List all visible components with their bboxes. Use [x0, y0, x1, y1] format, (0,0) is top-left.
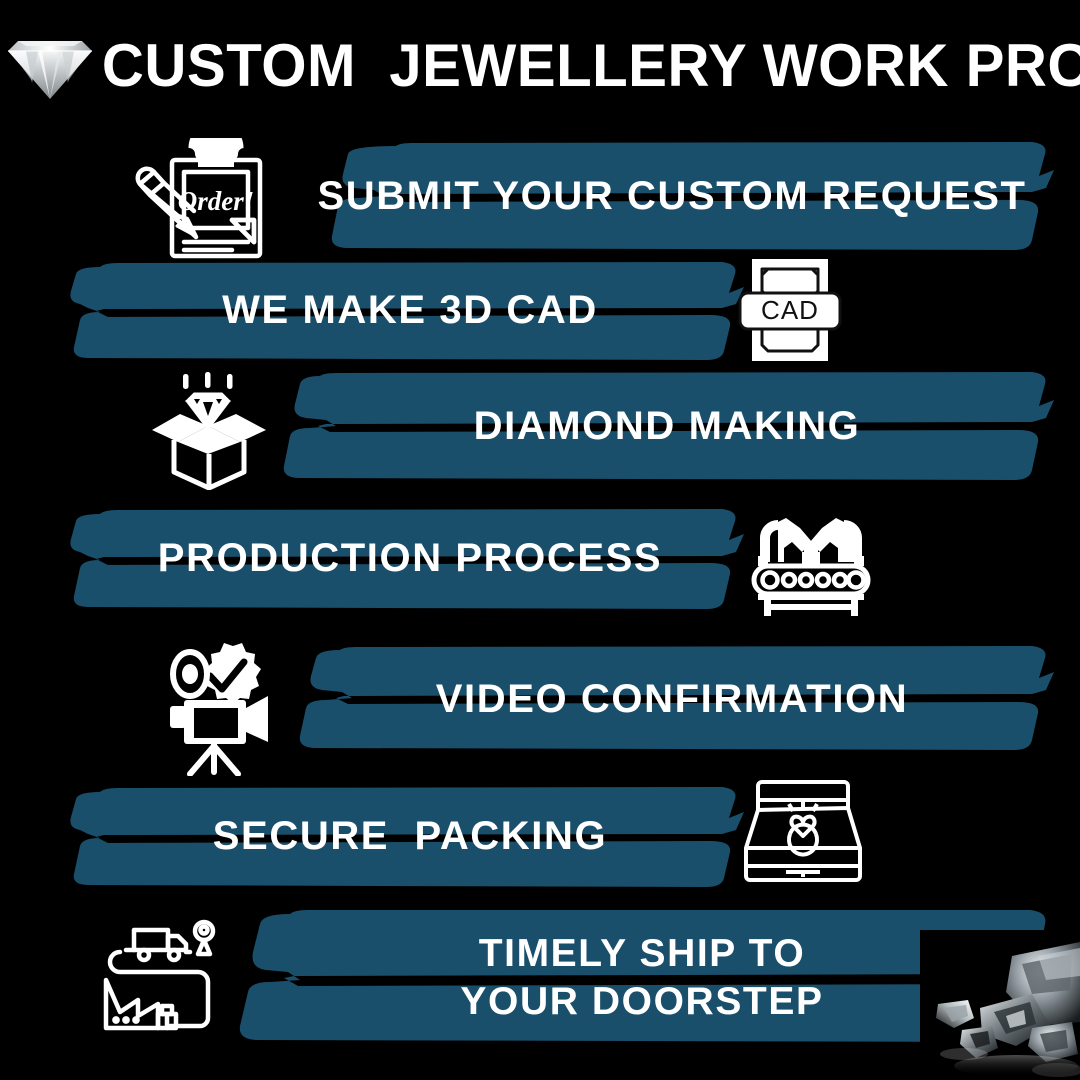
process-step-row: Order! SUBMIT YOUR CUSTOM REQUEST	[0, 138, 1080, 254]
video-camera-check-icon	[160, 634, 288, 776]
process-step-row: DIAMOND MAKING	[0, 368, 1080, 490]
step-banner[interactable]: WE MAKE 3D CAD	[70, 259, 750, 361]
process-step-row: TIMELY SHIP TO YOUR DOORSTEP	[0, 908, 1080, 1048]
conveyor-robot-arms-icon	[748, 504, 874, 616]
factory-truck-route-icon	[98, 912, 230, 1040]
cad-printer-icon: CAD	[730, 255, 850, 365]
poster-header: CUSTOM JEWELLERY WORK PROCESS	[0, 18, 1080, 114]
page-title: CUSTOM JEWELLERY WORK PROCESS	[98, 36, 1080, 96]
step-banner[interactable]: TIMELY SHIP TO YOUR DOORSTEP	[228, 908, 1056, 1048]
clipboard-order-icon: Order!	[128, 138, 282, 260]
infographic-poster: CUSTOM JEWELLERY WORK PROCESS	[0, 0, 1080, 1080]
step-banner[interactable]: VIDEO CONFIRMATION	[288, 644, 1056, 754]
step-banner[interactable]: SUBMIT YOUR CUSTOM REQUEST	[288, 140, 1056, 252]
diamond-gem-icon	[2, 27, 98, 105]
ring-box-icon	[742, 778, 864, 890]
process-step-row: SECURE PACKING	[0, 778, 1080, 894]
process-step-row: WE MAKE 3D CAD CAD	[0, 255, 1080, 365]
process-step-row: VIDEO CONFIRMATION	[0, 634, 1080, 776]
cad-printer-text: CAD	[761, 295, 819, 325]
step-banner[interactable]: SECURE PACKING	[70, 784, 750, 888]
process-step-row: PRODUCTION PROCESS	[0, 500, 1080, 618]
diamond-in-box-icon	[148, 368, 270, 490]
clipboard-order-text: Order!	[178, 186, 255, 216]
step-banner[interactable]: PRODUCTION PROCESS	[70, 506, 750, 610]
step-banner[interactable]: DIAMOND MAKING	[278, 370, 1056, 482]
